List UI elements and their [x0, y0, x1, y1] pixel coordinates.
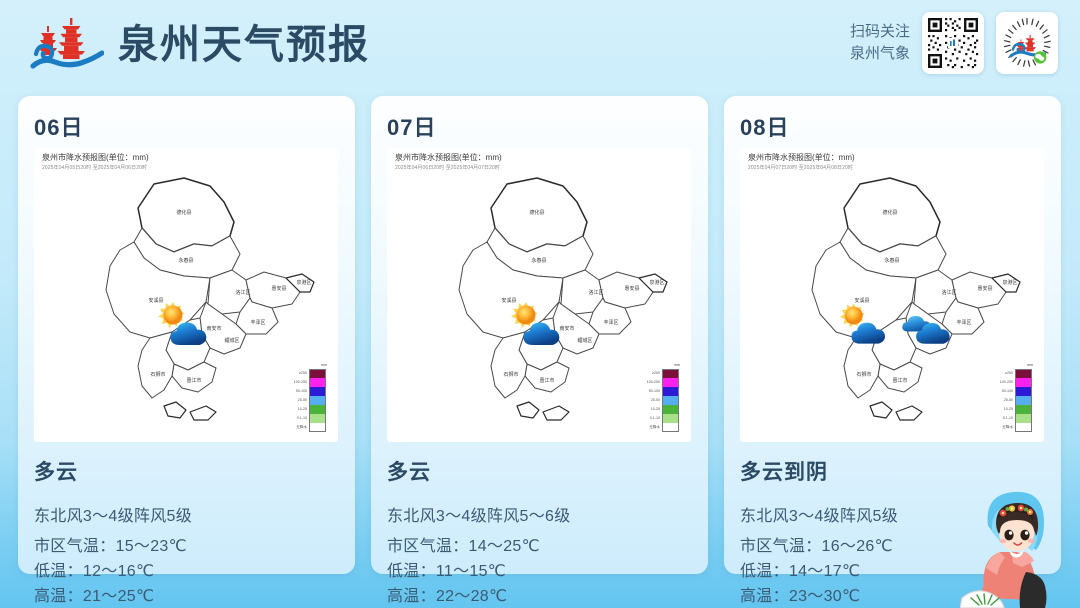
- high-temp-line: 高温：21～25℃: [34, 585, 339, 608]
- legend-swatch: [662, 369, 679, 378]
- svg-text:惠安县: 惠安县: [977, 285, 992, 292]
- legend-swatch: [662, 414, 679, 423]
- legend-row: 25-50: [640, 396, 682, 405]
- legend-unit-label: mm: [640, 364, 682, 368]
- svg-text:石狮市: 石狮市: [503, 371, 518, 378]
- legend-label: 无降水: [640, 426, 662, 430]
- legend-row: 无降水: [993, 423, 1035, 432]
- legend-label: 10-25: [993, 408, 1015, 412]
- legend-swatch: [309, 369, 326, 378]
- legend-swatch: [1015, 369, 1032, 378]
- legend-swatch: [1015, 414, 1032, 423]
- legend-row: 10-25: [640, 405, 682, 414]
- legend-row: 50-100: [640, 387, 682, 396]
- legend-swatch: [1015, 405, 1032, 414]
- svg-text:德化县: 德化县: [176, 209, 191, 216]
- legend-swatch: [309, 378, 326, 387]
- svg-text:惠安县: 惠安县: [271, 285, 286, 292]
- card-date-label: 06日: [34, 110, 339, 142]
- legend-row: 50-100: [287, 387, 329, 396]
- legend-swatch: [309, 396, 326, 405]
- legend-row: 无降水: [640, 423, 682, 432]
- svg-text:石狮市: 石狮市: [150, 371, 165, 378]
- svg-text:泉港区: 泉港区: [1002, 279, 1017, 286]
- legend-label: 25-50: [993, 399, 1015, 403]
- legend-swatch: [662, 423, 679, 432]
- legend-label: 0.1-10: [993, 417, 1015, 421]
- svg-text:德化县: 德化县: [529, 209, 544, 216]
- temperature-block: 市区气温：15～23℃ 低温：12～16℃ 高温：21～25℃: [34, 535, 339, 608]
- legend-rows: ≥250 100-250 50-100 25-50 10-25 0.1-10 无…: [640, 369, 682, 432]
- svg-text:丰泽区: 丰泽区: [603, 319, 618, 326]
- svg-text:泉港区: 泉港区: [296, 279, 311, 286]
- legend-swatch: [1015, 387, 1032, 396]
- svg-text:晋江市: 晋江市: [892, 377, 907, 384]
- legend-label: 50-100: [640, 390, 662, 394]
- precipitation-map-panel[interactable]: 泉州市降水预报图(单位：mm) 2025年04月07日20时 至2025年04月…: [740, 148, 1044, 442]
- wind-label: 东北风3～4级阵风5级: [34, 502, 339, 526]
- legend-label: 25-50: [640, 399, 662, 403]
- forecast-card-day-2[interactable]: 07日 泉州市降水预报图(单位：mm) 2025年04月06日20时 至2025…: [371, 96, 708, 574]
- low-temp-line: 低温：11～15℃: [387, 560, 692, 585]
- forecast-cards: 06日 泉州市降水预报图(单位：mm) 2025年04月05日20时 至2025…: [18, 96, 1062, 574]
- forecast-card-day-1[interactable]: 06日 泉州市降水预报图(单位：mm) 2025年04月05日20时 至2025…: [18, 96, 355, 574]
- svg-text:丰泽区: 丰泽区: [956, 319, 971, 326]
- svg-text:南安市: 南安市: [206, 325, 221, 332]
- legend-label: 0.1-10: [640, 417, 662, 421]
- svg-text:安溪县: 安溪县: [854, 297, 869, 304]
- svg-text:洛江区: 洛江区: [941, 289, 956, 296]
- svg-text:洛江区: 洛江区: [235, 289, 250, 296]
- legend-label: 10-25: [640, 408, 662, 412]
- wechat-official-account-qr-icon[interactable]: [922, 12, 984, 74]
- svg-text:晋江市: 晋江市: [539, 377, 554, 384]
- svg-text:洛江区: 洛江区: [588, 289, 603, 296]
- wechat-mini-program-code-icon[interactable]: [996, 12, 1058, 74]
- card-date-label: 07日: [387, 110, 692, 142]
- legend-row: 100-250: [993, 378, 1035, 387]
- brand: 泉州天气预报: [30, 14, 370, 76]
- legend-swatch: [309, 405, 326, 414]
- legend-row: 0.1-10: [287, 414, 329, 423]
- legend-swatch: [662, 387, 679, 396]
- legend-row: 10-25: [287, 405, 329, 414]
- svg-text:泉港区: 泉港区: [649, 279, 664, 286]
- legend-label: 无降水: [287, 426, 309, 430]
- svg-text:南安市: 南安市: [912, 325, 927, 332]
- page-title: 泉州天气预报: [118, 25, 370, 65]
- legend-label: 0.1-10: [287, 417, 309, 421]
- legend-swatch: [1015, 378, 1032, 387]
- legend-swatch: [662, 378, 679, 387]
- svg-text:永春县: 永春县: [884, 257, 899, 264]
- precipitation-map-panel[interactable]: 泉州市降水预报图(单位：mm) 2025年04月05日20时 至2025年04月…: [34, 148, 338, 442]
- svg-text:德化县: 德化县: [882, 209, 897, 216]
- legend-swatch: [662, 405, 679, 414]
- precipitation-legend: mm ≥250 100-250 50-100 25-50 10-25 0.1-1…: [640, 364, 682, 432]
- precipitation-legend: mm ≥250 100-250 50-100 25-50 10-25 0.1-1…: [287, 364, 329, 432]
- qr-caption: 扫码关注 泉州气象: [850, 21, 910, 65]
- legend-swatch: [1015, 396, 1032, 405]
- legend-row: 25-50: [287, 396, 329, 405]
- city-temp-line: 市区气温：15～23℃: [34, 535, 339, 560]
- svg-text:晋江市: 晋江市: [186, 377, 201, 384]
- legend-rows: ≥250 100-250 50-100 25-50 10-25 0.1-10 无…: [993, 369, 1035, 432]
- legend-row: ≥250: [287, 369, 329, 378]
- svg-text:南安市: 南安市: [559, 325, 574, 332]
- card-date-label: 08日: [740, 110, 1045, 142]
- legend-label: 25-50: [287, 399, 309, 403]
- legend-row: 100-250: [640, 378, 682, 387]
- legend-label: 50-100: [993, 390, 1015, 394]
- legend-unit-label: mm: [287, 364, 329, 368]
- wind-label: 东北风3～4级阵风5～6级: [387, 502, 692, 526]
- high-temp-line: 高温：22～28℃: [387, 585, 692, 608]
- legend-label: ≥250: [993, 372, 1015, 376]
- legend-label: ≥250: [287, 372, 309, 376]
- legend-swatch: [309, 414, 326, 423]
- legend-label: 100-250: [640, 381, 662, 385]
- svg-text:安溪县: 安溪县: [501, 297, 516, 304]
- svg-text:石狮市: 石狮市: [856, 371, 871, 378]
- legend-rows: ≥250 100-250 50-100 25-50 10-25 0.1-10 无…: [287, 369, 329, 432]
- svg-text:鲤城区: 鲤城区: [224, 337, 239, 344]
- svg-text:安溪县: 安溪县: [148, 297, 163, 304]
- svg-text:永春县: 永春县: [531, 257, 546, 264]
- legend-row: 100-250: [287, 378, 329, 387]
- condition-label: 多云: [34, 456, 339, 486]
- page-header: 泉州天气预报 扫码关注 泉州气象: [0, 0, 1080, 92]
- svg-text:鲤城区: 鲤城区: [930, 337, 945, 344]
- xunpu-girl-mascot-icon: [960, 480, 1078, 608]
- legend-label: ≥250: [640, 372, 662, 376]
- qr-caption-line2: 泉州气象: [850, 43, 910, 65]
- legend-swatch: [309, 423, 326, 432]
- legend-label: 50-100: [287, 390, 309, 394]
- legend-swatch: [1015, 423, 1032, 432]
- legend-label: 无降水: [993, 426, 1015, 430]
- legend-label: 100-250: [287, 381, 309, 385]
- precipitation-map-panel[interactable]: 泉州市降水预报图(单位：mm) 2025年04月06日20时 至2025年04月…: [387, 148, 691, 442]
- legend-row: 25-50: [993, 396, 1035, 405]
- qr-follow-zone: 扫码关注 泉州气象: [850, 12, 1058, 74]
- svg-text:永春县: 永春县: [178, 257, 193, 264]
- condition-label: 多云: [387, 456, 692, 486]
- qr-caption-line1: 扫码关注: [850, 21, 910, 43]
- svg-text:丰泽区: 丰泽区: [250, 319, 265, 326]
- legend-swatch: [662, 396, 679, 405]
- legend-label: 10-25: [287, 408, 309, 412]
- legend-swatch: [309, 387, 326, 396]
- quanzhou-pagoda-wave-logo-icon: [30, 14, 104, 76]
- precipitation-legend: mm ≥250 100-250 50-100 25-50 10-25 0.1-1…: [993, 364, 1035, 432]
- svg-text:鲤城区: 鲤城区: [577, 337, 592, 344]
- legend-row: 50-100: [993, 387, 1035, 396]
- temperature-block: 市区气温：14～25℃ 低温：11～15℃ 高温：22～28℃: [387, 535, 692, 608]
- legend-row: 0.1-10: [640, 414, 682, 423]
- legend-row: 10-25: [993, 405, 1035, 414]
- weather-forecast-page: 泉州天气预报 扫码关注 泉州气象: [0, 0, 1080, 608]
- legend-unit-label: mm: [993, 364, 1035, 368]
- legend-row: ≥250: [993, 369, 1035, 378]
- legend-row: 0.1-10: [993, 414, 1035, 423]
- legend-label: 100-250: [993, 381, 1015, 385]
- low-temp-line: 低温：12～16℃: [34, 560, 339, 585]
- city-temp-line: 市区气温：14～25℃: [387, 535, 692, 560]
- svg-text:惠安县: 惠安县: [624, 285, 639, 292]
- legend-row: 无降水: [287, 423, 329, 432]
- legend-row: ≥250: [640, 369, 682, 378]
